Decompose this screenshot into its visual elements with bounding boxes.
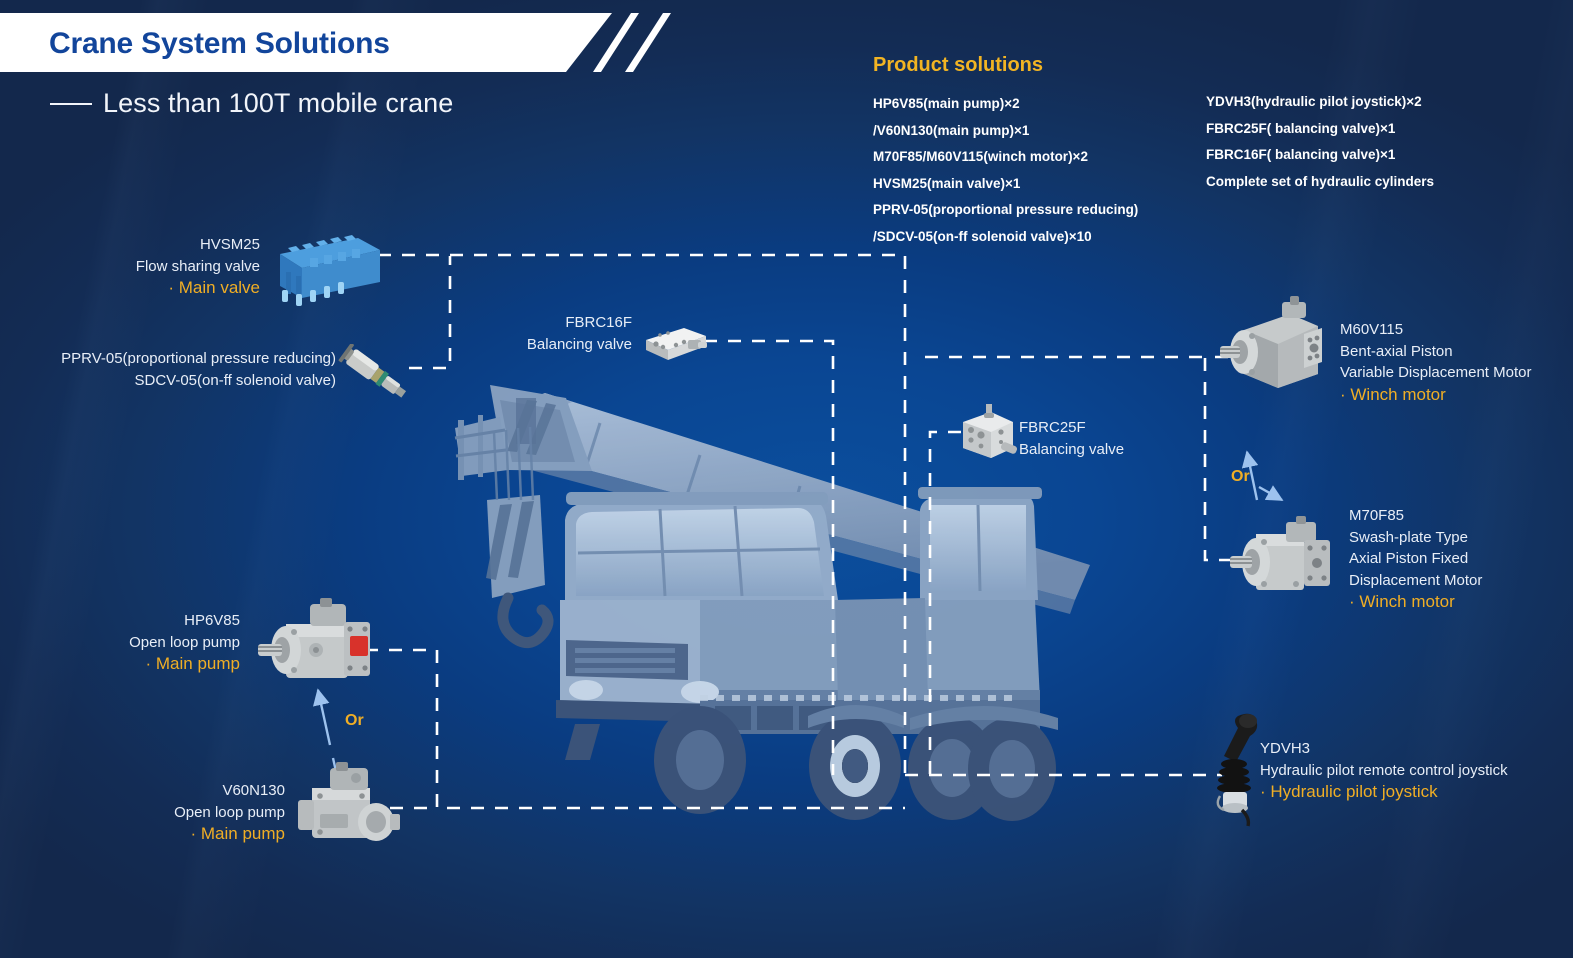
product-item: HVSM25(main valve)×1 [873, 171, 1138, 198]
callout-fbrc25f: FBRC25F Balancing valve [1019, 417, 1124, 460]
callout-m60v115: M60V115 Bent-axial Piston Variable Displ… [1340, 319, 1531, 405]
hp6v85-pump-image [252, 598, 374, 694]
subtitle-dash [50, 103, 92, 105]
v60n130-role: · Main pump [50, 823, 285, 845]
m70f85-code: M70F85 [1349, 505, 1482, 527]
pprv-sdcv-valve-image [336, 344, 418, 406]
product-item: FBRC25F( balancing valve)×1 [1206, 116, 1434, 143]
pprv-line2: SDCV-05(on-ff solenoid valve) [20, 370, 336, 392]
callout-hp6v85: HP6V85 Open loop pump · Main pump [10, 610, 240, 675]
ydvh3-role: · Hydraulic pilot joystick [1260, 781, 1508, 803]
fbrc25f-desc: Balancing valve [1019, 439, 1124, 461]
fbrc16f-desc: Balancing valve [450, 334, 632, 356]
product-item: YDVH3(hydraulic pilot joystick)×2 [1206, 89, 1434, 116]
page-title: Crane System Solutions [49, 27, 390, 61]
callout-ydvh3: YDVH3 Hydraulic pilot remote control joy… [1260, 738, 1508, 803]
hp6v85-code: HP6V85 [10, 610, 240, 632]
product-solutions-title: Product solutions [873, 54, 1043, 77]
product-item: /V60N130(main pump)×1 [873, 118, 1138, 145]
page-subtitle: Less than 100T mobile crane [50, 88, 453, 119]
subtitle-text: Less than 100T mobile crane [103, 88, 453, 119]
product-item: M70F85/M60V115(winch motor)×2 [873, 144, 1138, 171]
hp6v85-role: · Main pump [10, 653, 240, 675]
m60v115-code: M60V115 [1340, 319, 1531, 341]
product-item: PPRV-05(proportional pressure reducing) [873, 197, 1138, 224]
or-label-motors: Or [1231, 468, 1250, 486]
m60v115-desc2: Variable Displacement Motor [1340, 362, 1531, 384]
hvsm25-desc: Flow sharing valve [20, 256, 260, 278]
v60n130-desc: Open loop pump [50, 802, 285, 824]
fbrc25f-code: FBRC25F [1019, 417, 1124, 439]
m60v115-motor-image [1218, 296, 1330, 400]
pprv-line1: PPRV-05(proportional pressure reducing) [20, 348, 336, 370]
m60v115-role: · Winch motor [1340, 384, 1531, 406]
m70f85-desc3: Displacement Motor [1349, 570, 1482, 592]
product-item: FBRC16F( balancing valve)×1 [1206, 142, 1434, 169]
hvsm25-code: HVSM25 [20, 234, 260, 256]
hvsm25-valve-image [262, 228, 384, 310]
callout-hvsm25: HVSM25 Flow sharing valve · Main valve [20, 234, 260, 299]
v60n130-pump-image [290, 762, 402, 854]
m70f85-role: · Winch motor [1349, 591, 1482, 613]
product-item: HP6V85(main pump)×2 [873, 91, 1138, 118]
product-item: Complete set of hydraulic cylinders [1206, 169, 1434, 196]
m70f85-desc1: Swash-plate Type [1349, 527, 1482, 549]
m70f85-motor-image [1226, 516, 1336, 608]
fbrc16f-valve-image [640, 318, 712, 366]
or-label-pumps: Or [345, 712, 364, 730]
v60n130-code: V60N130 [50, 780, 285, 802]
callout-v60n130: V60N130 Open loop pump · Main pump [50, 780, 285, 845]
callout-m70f85: M70F85 Swash-plate Type Axial Piston Fix… [1349, 505, 1482, 613]
m60v115-desc1: Bent-axial Piston [1340, 341, 1531, 363]
fbrc25f-valve-image [955, 404, 1025, 466]
ydvh3-desc: Hydraulic pilot remote control joystick [1260, 760, 1508, 782]
callout-fbrc16f: FBRC16F Balancing valve [450, 312, 632, 355]
product-item: /SDCV-05(on-ff solenoid valve)×10 [873, 224, 1138, 251]
hvsm25-role: · Main valve [20, 277, 260, 299]
product-solutions-right-column: YDVH3(hydraulic pilot joystick)×2 FBRC25… [1206, 89, 1434, 195]
m70f85-desc2: Axial Piston Fixed [1349, 548, 1482, 570]
callout-pprv-sdcv: PPRV-05(proportional pressure reducing) … [20, 348, 336, 391]
hp6v85-desc: Open loop pump [10, 632, 240, 654]
slide-canvas: Crane System Solutions Less than 100T mo… [0, 0, 1573, 958]
ydvh3-code: YDVH3 [1260, 738, 1508, 760]
product-solutions-left-column: HP6V85(main pump)×2 /V60N130(main pump)×… [873, 91, 1138, 250]
fbrc16f-code: FBRC16F [450, 312, 632, 334]
